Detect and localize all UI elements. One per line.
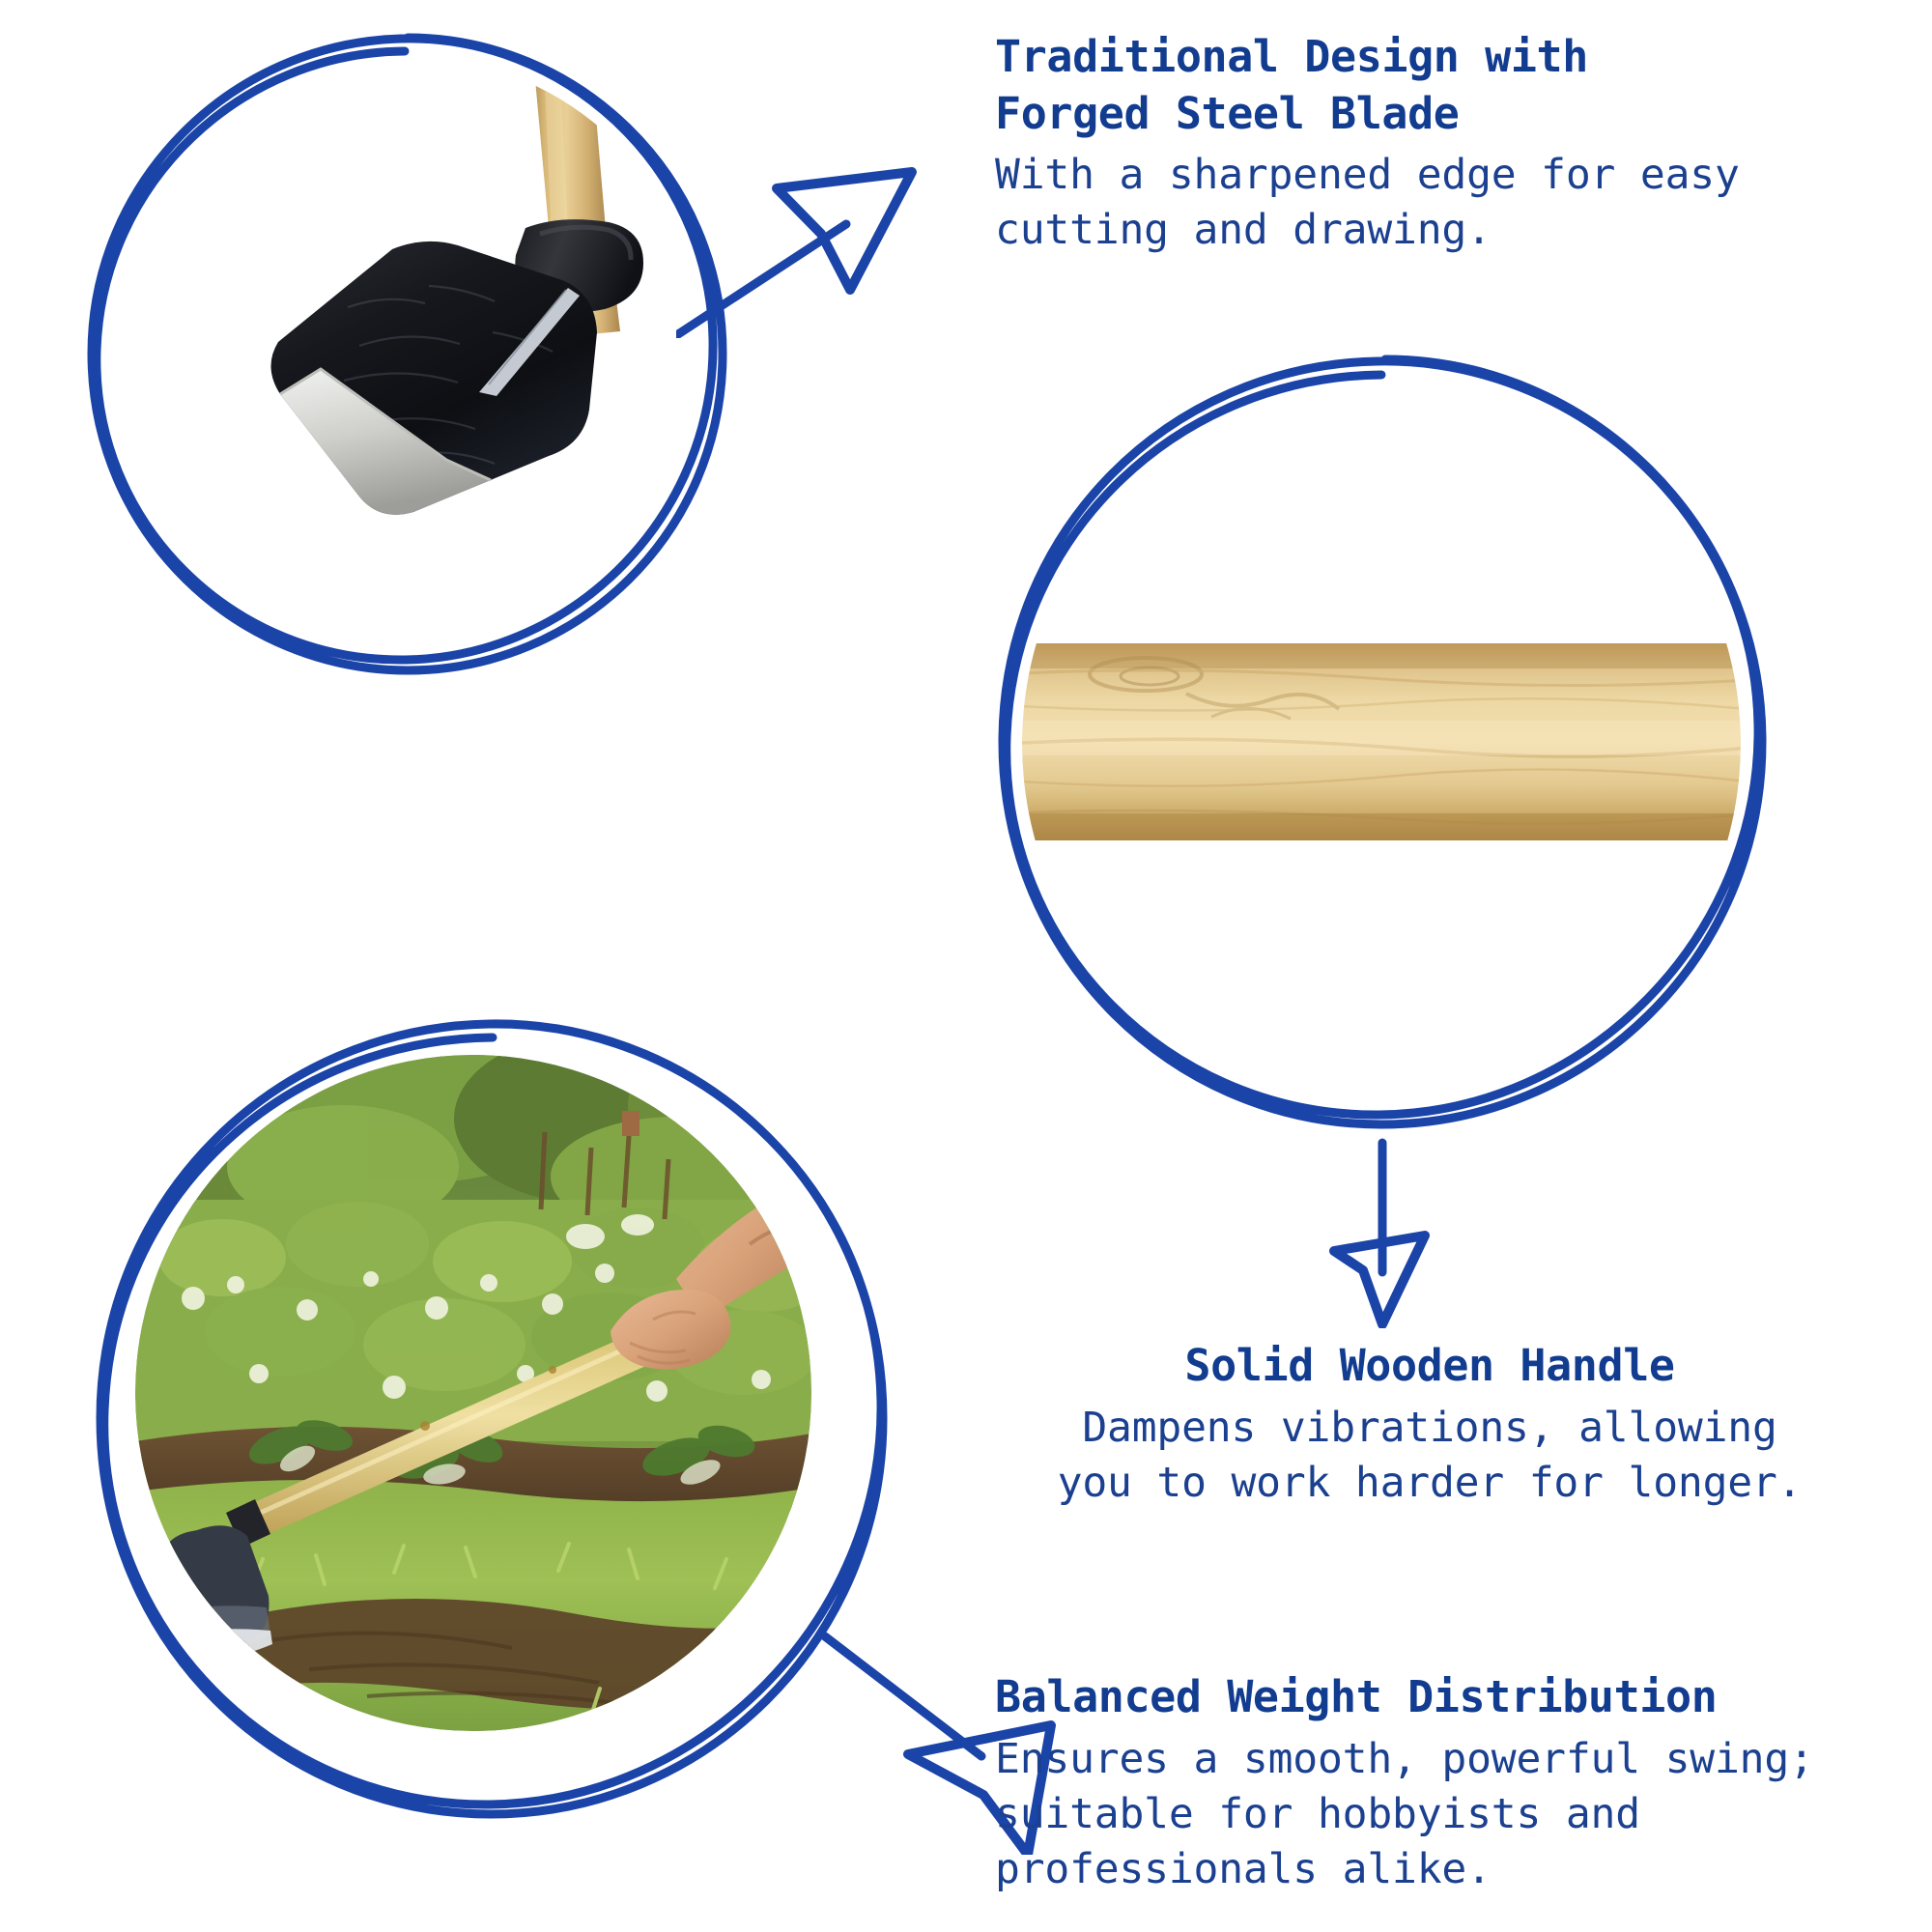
feature-text-forged-steel-blade: Traditional Design with Forged Steel Bla…	[995, 29, 1903, 258]
feature-text-balanced-weight-distribution: Balanced Weight Distribution Ensures a s…	[995, 1669, 1913, 1897]
feature-body-forged-steel-blade: With a sharpened edge for easy cutting a…	[995, 148, 1903, 258]
handle-photo-illustration	[1022, 384, 1741, 1103]
feature-image-panel-blade	[68, 17, 744, 694]
handle-photo	[1022, 384, 1741, 1103]
blade-photo	[106, 56, 705, 655]
feature-image-panel-handle	[976, 338, 1787, 1150]
feature-text-solid-wooden-handle: Solid Wooden Handle Dampens vibrations, …	[966, 1338, 1893, 1511]
feature-image-panel-garden	[77, 1005, 908, 1835]
garden-photo-illustration	[135, 1055, 811, 1731]
garden-photo	[135, 1055, 811, 1731]
feature-headline-solid-wooden-handle: Solid Wooden Handle	[966, 1338, 1893, 1395]
blade-photo-illustration	[106, 56, 705, 655]
arrow-down-from-handle-circle	[1328, 1135, 1531, 1328]
feature-body-solid-wooden-handle: Dampens vibrations, allowing you to work…	[966, 1401, 1893, 1511]
feature-headline-forged-steel-blade: Traditional Design with Forged Steel Bla…	[995, 29, 1903, 142]
feature-body-balanced-weight-distribution: Ensures a smooth, powerful swing; suitab…	[995, 1732, 1913, 1898]
feature-headline-balanced-weight-distribution: Balanced Weight Distribution	[995, 1669, 1913, 1726]
infographic-canvas: Traditional Design with Forged Steel Bla…	[0, 0, 1932, 1932]
